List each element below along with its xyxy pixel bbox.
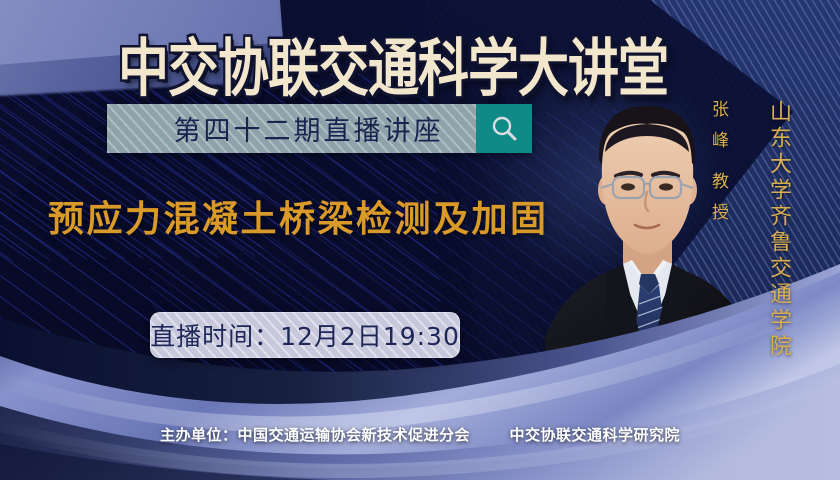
episode-banner-body: 第四十二期直播讲座 [107,104,476,153]
footer: 主办单位：中国交通运输协会新技术促进分会 中交协联交通科学研究院 [0,424,840,445]
broadcast-time-label: 直播时间：12月2日19:30 [150,317,460,353]
search-icon[interactable] [476,104,532,153]
live-stream-poster: 中交协联交通科学大讲堂 第四十二期直播讲座 预应力混凝土桥梁检测及加固 直播时间… [0,0,840,480]
bottom-ribbon-decoration [0,260,840,480]
speaker-title: 教授 [706,172,731,234]
page-title: 中交协联交通科学大讲堂 [118,18,668,108]
episode-banner: 第四十二期直播讲座 [107,104,532,153]
footer-co-organizer: 中交协联交通科学研究院 [509,424,680,445]
episode-label: 第四十二期直播讲座 [140,109,444,148]
footer-organizer: 主办单位：中国交通运输协会新技术促进分会 [160,424,470,445]
speaker-organization: 山东大学齐鲁交通学院 [762,100,794,360]
speaker-name: 张峰 [706,100,731,162]
lecture-title: 预应力混凝土桥梁检测及加固 [48,190,549,242]
broadcast-time-badge: 直播时间：12月2日19:30 [150,312,460,358]
